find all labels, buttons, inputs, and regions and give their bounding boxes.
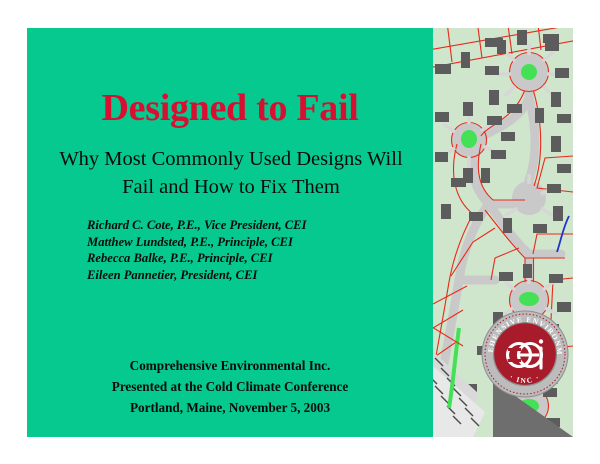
- page-title: Designed to Fail: [27, 87, 433, 129]
- footer-location-date: Portland, Maine, November 5, 2003: [27, 397, 433, 418]
- footer-organization: Comprehensive Environmental Inc.: [27, 355, 433, 376]
- author-line: Rebecca Balke, P.E., Principle, CEI: [87, 250, 417, 267]
- subtitle-line-1: Why Most Commonly Used Designs Will: [35, 145, 427, 173]
- slide-footer: Comprehensive Environmental Inc. Present…: [27, 355, 433, 418]
- cei-seal: COMPREHENSIVE ENVIRONMENTAL · INC ·: [481, 310, 569, 398]
- author-list: Richard C. Cote, P.E., Vice President, C…: [87, 217, 417, 283]
- slide-subtitle: Why Most Commonly Used Designs Will Fail…: [35, 145, 427, 201]
- presentation-slide: Designed to Fail Why Most Commonly Used …: [27, 28, 573, 437]
- author-line: Matthew Lundsted, P.E., Principle, CEI: [87, 234, 417, 251]
- author-line: Eileen Pannetier, President, CEI: [87, 267, 417, 284]
- title-text-column: Designed to Fail Why Most Commonly Used …: [27, 28, 433, 437]
- author-line: Richard C. Cote, P.E., Vice President, C…: [87, 217, 417, 234]
- site-plan-map: COMPREHENSIVE ENVIRONMENTAL · INC ·: [433, 28, 573, 437]
- subtitle-line-2: Fail and How to Fix Them: [35, 173, 427, 201]
- footer-event: Presented at the Cold Climate Conference: [27, 376, 433, 397]
